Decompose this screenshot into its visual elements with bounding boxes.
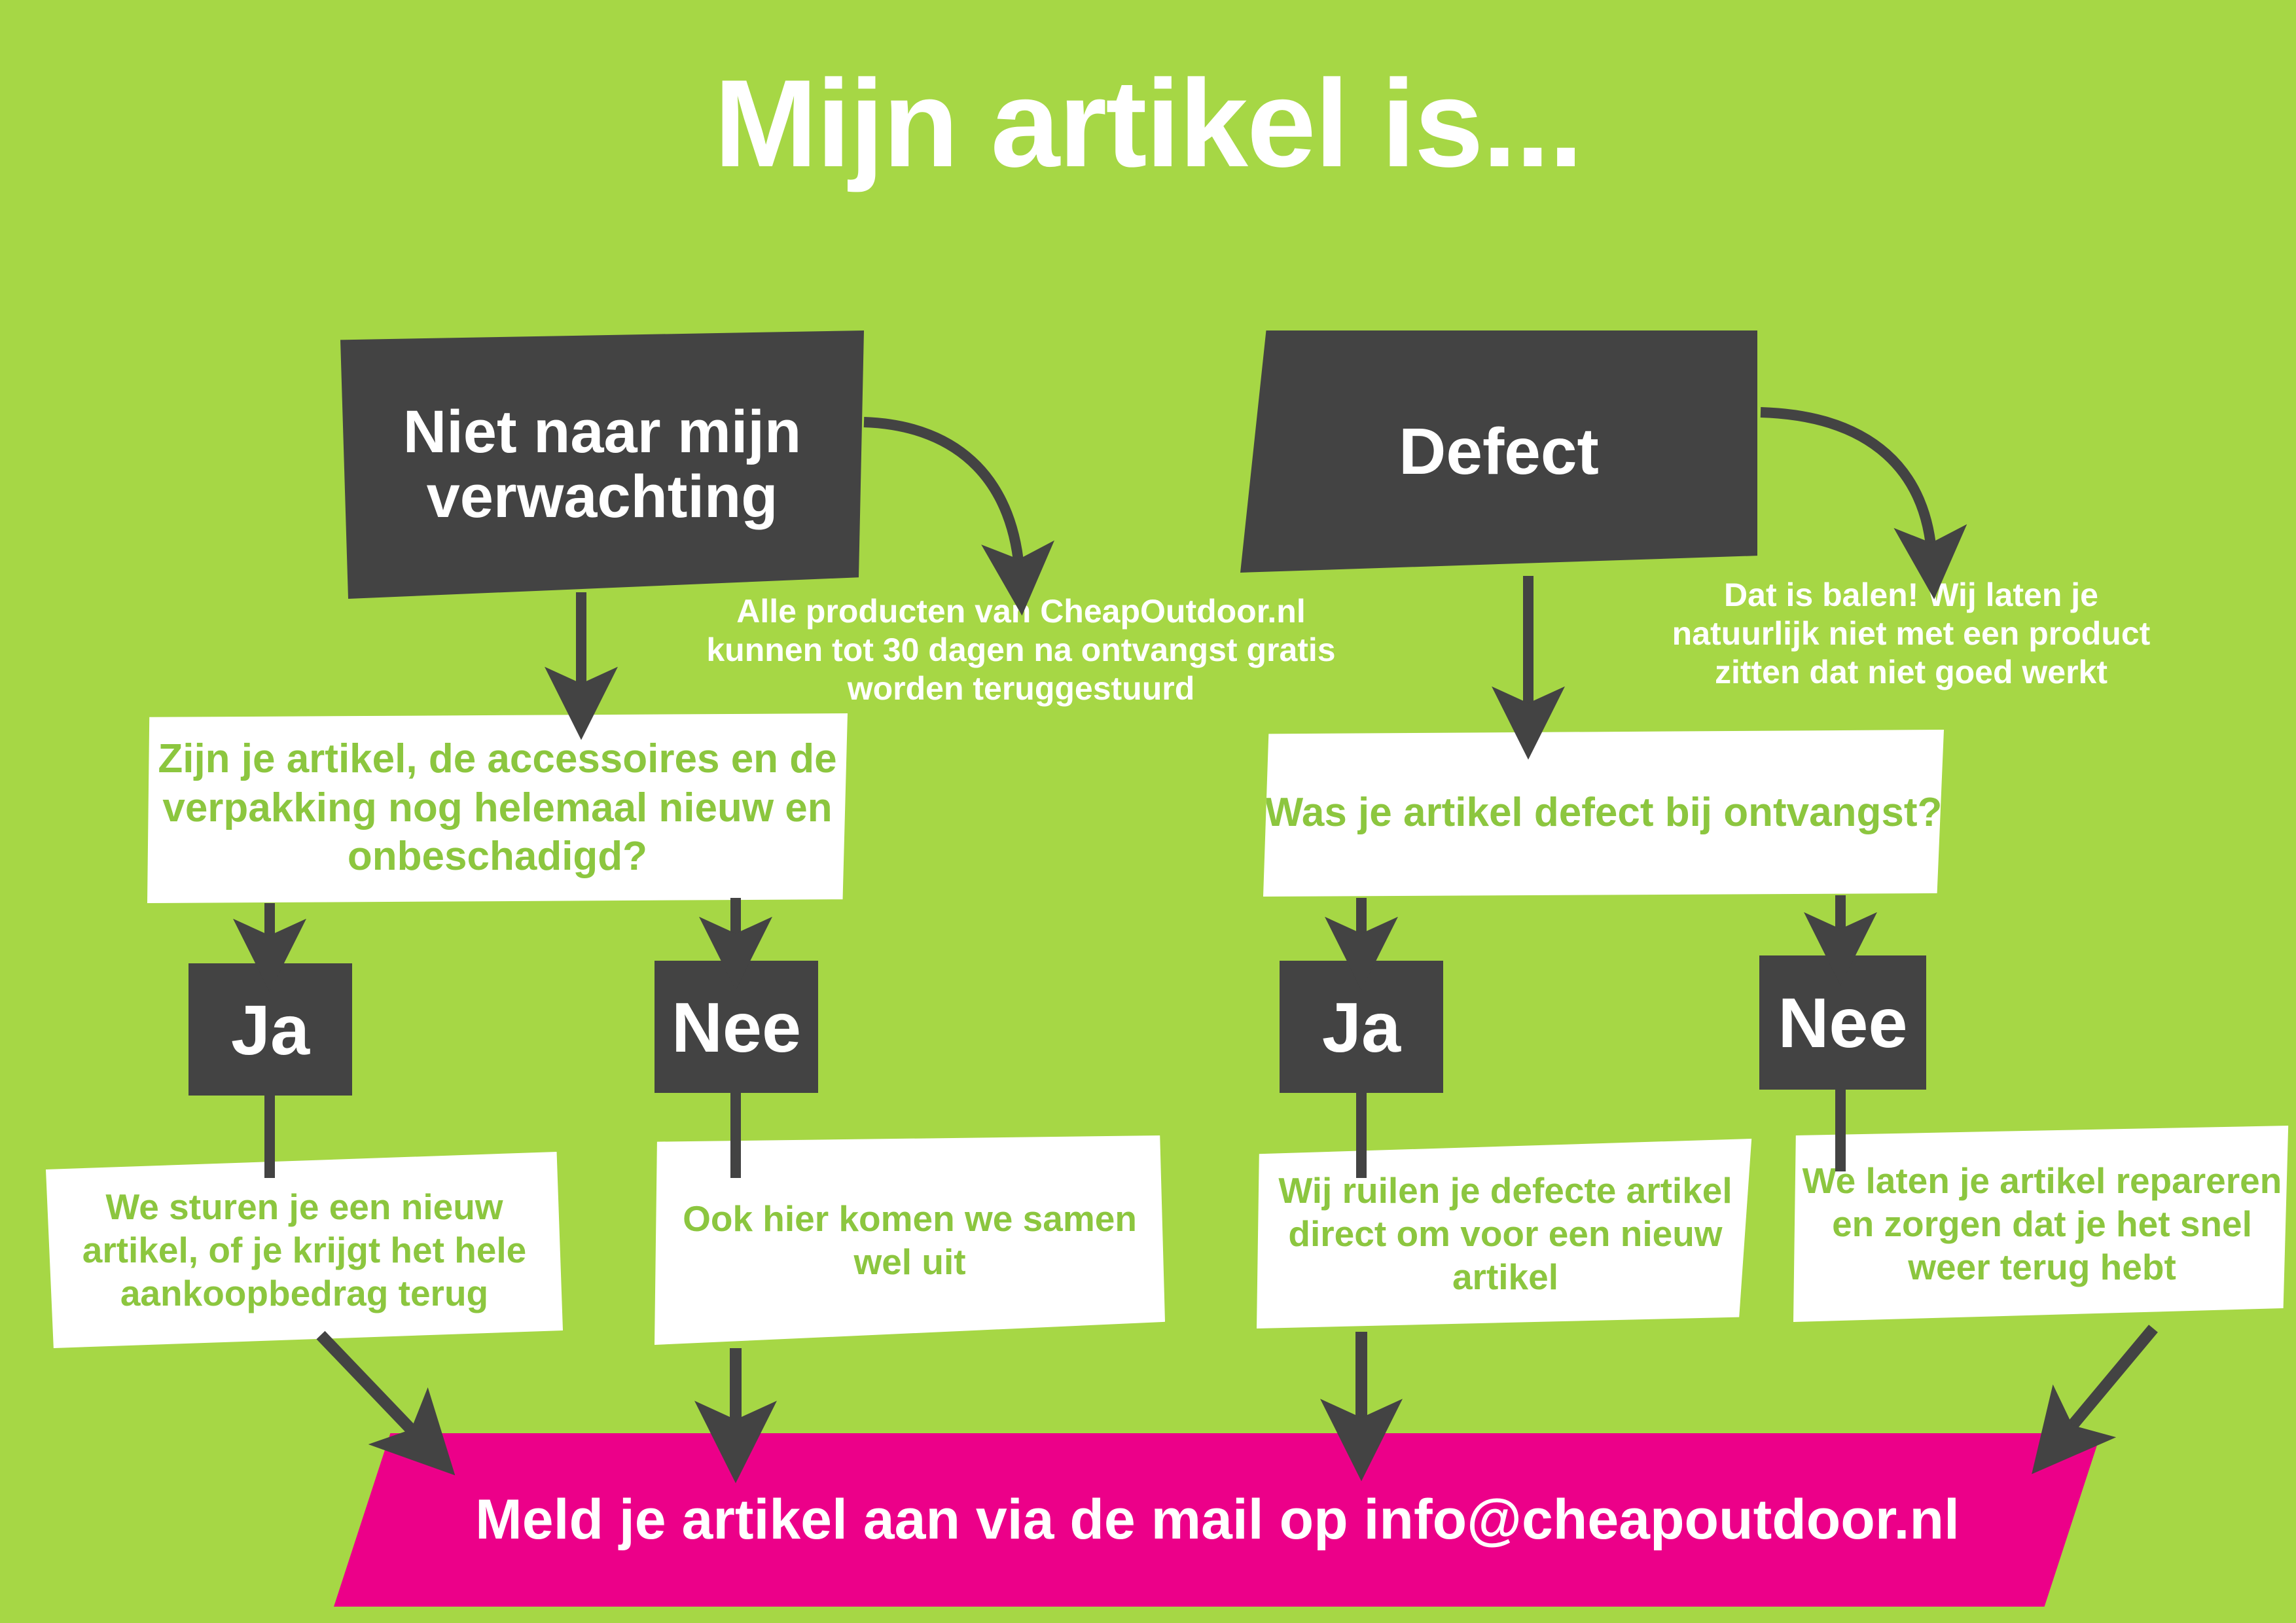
answer-box-defect-ja: Ja: [1280, 961, 1443, 1093]
annotation-defect: Dat is balen! Wij laten je natuurlijk ni…: [1649, 576, 2173, 692]
category-banner-defect: Defect: [1240, 330, 1757, 573]
curved-arrow-annotation-right: [1761, 412, 1932, 560]
outcome-card-expectation-nee: Ook hier komen we samen wel uit: [655, 1135, 1165, 1345]
call-to-action-banner[interactable]: Meld je artikel aan via de mail op info@…: [334, 1433, 2101, 1607]
outcome-card-defect-ja: Wij ruilen je defecte artikel direct om …: [1257, 1139, 1754, 1329]
infographic-poster: Mijn artikel is... Niet naar mijn verwac…: [0, 0, 2296, 1623]
answer-box-expectation-ja: Ja: [188, 963, 352, 1096]
arrow-outcome1-to-banner: [321, 1335, 424, 1443]
category-banner-expectation: Niet naar mijn verwachting: [340, 330, 864, 599]
outcome-card-expectation-ja: We sturen je een nieuw artikel, of je kr…: [46, 1152, 563, 1348]
arrow-outcome4-to-banner: [2060, 1329, 2153, 1440]
curved-arrow-annotation-left: [864, 422, 1020, 576]
outcome-card-defect-nee: We laten je artikel repareren en zorgen …: [1793, 1126, 2291, 1322]
question-card-defect: Was je artikel defect bij ontvangst?: [1263, 730, 1944, 897]
answer-box-expectation-nee: Nee: [655, 961, 818, 1093]
answer-box-defect-nee: Nee: [1759, 955, 1926, 1090]
question-card-expectation: Zijn je artikel, de accessoires en de ve…: [147, 713, 848, 903]
page-title: Mijn artikel is...: [0, 59, 2296, 190]
annotation-expectation: Alle producten van CheapOutdoor.nl kunne…: [694, 592, 1348, 708]
